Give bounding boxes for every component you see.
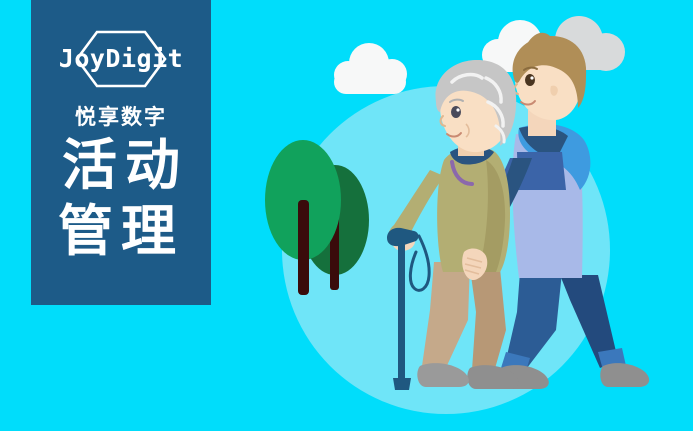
man-eye-highlight [530, 76, 533, 79]
logo: JoyDigit 悦享数字 [31, 30, 211, 131]
cane-tip [393, 378, 411, 390]
man-back-shoe [600, 363, 649, 387]
logo-chinese-name: 悦享数字 [31, 101, 211, 131]
woman-eye [451, 106, 461, 118]
man-eye [525, 74, 535, 86]
cane-shaft [398, 242, 405, 386]
woman-eye-highlight [456, 108, 459, 111]
logo-mark: JoyDigit [46, 30, 196, 88]
page-title: 活动管理 [31, 132, 211, 264]
banner-graphic: JoyDigit 悦享数字 活动管理 [0, 0, 693, 431]
cloud-left [334, 43, 407, 94]
title-panel: JoyDigit 悦享数字 活动管理 [31, 0, 211, 305]
logo-wordmark: JoyDigit [46, 44, 196, 74]
